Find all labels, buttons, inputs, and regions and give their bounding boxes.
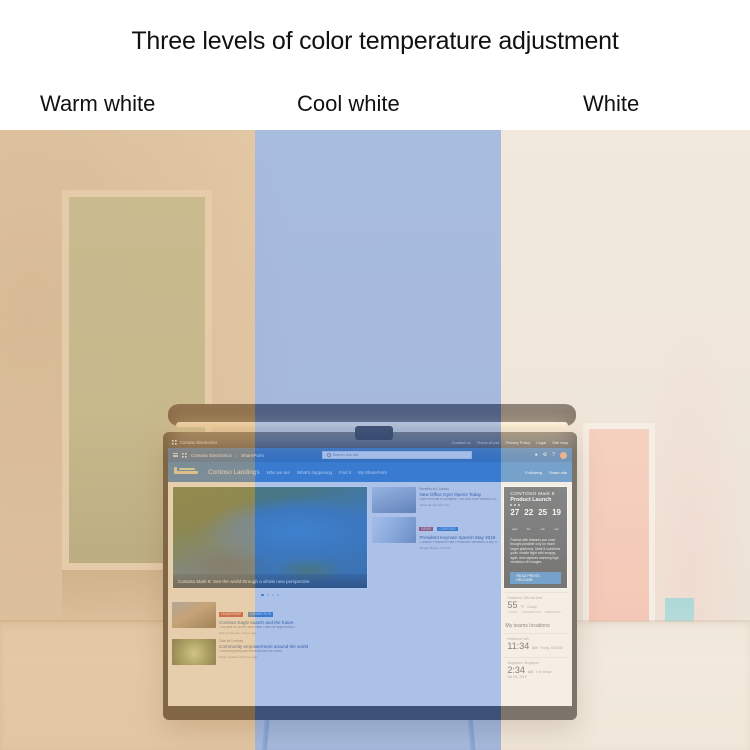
countdown-hours: 22 hrs xyxy=(524,509,533,535)
news-badge-secondary: CONTOSO xyxy=(437,527,457,532)
news-kicker: Benefits at Contoso xyxy=(419,487,498,491)
suite-brand: Contoso Electronics xyxy=(180,440,217,445)
countdown-days-value: 27 xyxy=(510,509,519,517)
weather-condition: Cloudy xyxy=(527,605,537,609)
gear-icon[interactable]: ⚙ xyxy=(543,452,547,458)
weather-temperature: 55 xyxy=(507,600,517,610)
page-title: Three levels of color temperature adjust… xyxy=(0,27,750,56)
promo-dots xyxy=(510,504,561,506)
app-launcher-icon[interactable] xyxy=(172,440,177,445)
site-navigation: Contoso Landings Who we are What's happe… xyxy=(168,462,572,482)
clock-widget-redmond: Redmond, WA 11:34 AM Friday, 5/3/2019 xyxy=(503,633,568,654)
nav-item-whats-happening[interactable]: What's happening xyxy=(297,470,332,475)
product-image: Three levels of color temperature adjust… xyxy=(0,0,750,750)
monitor-screen: Contoso Electronics Contact us Terms of … xyxy=(168,437,572,706)
search-placeholder: Search this site xyxy=(333,453,359,457)
weather-tab-weekend[interactable]: WEEKEND xyxy=(545,610,561,614)
countdown-minutes-value: 25 xyxy=(538,509,547,517)
news-meta: Adele Berger April 16 xyxy=(419,503,498,507)
countdown-days: 27 days xyxy=(510,509,519,535)
share-site-button[interactable]: Share site xyxy=(549,470,567,475)
suite-link-contact[interactable]: Contact us xyxy=(451,440,470,445)
appbar-separator: | xyxy=(236,453,237,458)
following-button[interactable]: Following xyxy=(525,470,542,475)
news-card[interactable]: LEADERSHIP CONNECTION Contoso Eagle laun… xyxy=(172,602,368,635)
countdown-days-unit: days xyxy=(512,527,518,531)
news-title[interactable]: President Keynote Speech May 2019 xyxy=(419,535,499,540)
weather-tab-tomorrow[interactable]: TOMORROW xyxy=(522,610,541,614)
waffle-icon[interactable] xyxy=(182,453,187,458)
header: Three levels of color temperature adjust… xyxy=(0,0,750,130)
news-meta: Nali Fernandes 3 days ago xyxy=(219,631,298,635)
countdown-hours-value: 22 xyxy=(524,509,533,517)
countdown-hours-unit: hrs xyxy=(527,527,531,531)
news-meta: Megan Bowen April 16 xyxy=(419,546,499,550)
news-badge: LEADERSHIP xyxy=(219,612,243,617)
news-description: Contoso President Patti Fernandez delive… xyxy=(419,541,499,545)
product-scene: Contoso Electronics Contact us Terms of … xyxy=(0,130,750,750)
countdown-seconds: 19 sec xyxy=(552,509,561,535)
search-icon xyxy=(327,453,330,456)
news-description: Gym remodel is complete. You now have ac… xyxy=(419,498,498,502)
site-name[interactable]: Contoso Landings xyxy=(208,469,260,476)
product-launch-promo: CONTOSO Mark 8 Product Launch 27 days xyxy=(503,486,568,589)
hero-image xyxy=(173,487,367,588)
avatar[interactable] xyxy=(560,452,567,459)
news-description: Continuing empowerment around the world xyxy=(219,650,308,654)
countdown-minutes: 25 min xyxy=(538,509,547,535)
carousel-dot[interactable] xyxy=(272,594,274,596)
read-press-release-button[interactable]: READ PRESS RELEASE xyxy=(510,572,561,584)
clock-time: 2:34 xyxy=(507,665,525,675)
news-title[interactable]: Community empowerment around the world xyxy=(219,644,308,649)
help-icon[interactable]: ? xyxy=(552,452,555,458)
label-warm-white: Warm white xyxy=(40,91,155,117)
countdown-minutes-unit: min xyxy=(540,527,545,531)
clock-suffix: AM xyxy=(528,670,533,674)
news-thumbnail xyxy=(172,639,216,665)
bell-icon[interactable]: ● xyxy=(535,452,538,458)
promo-paragraph: Packed with features you once thought po… xyxy=(510,538,561,565)
news-title[interactable]: New Office Gym Opens Today xyxy=(419,492,498,497)
news-title[interactable]: Contoso Eagle launch and the future xyxy=(219,620,298,625)
news-badge-secondary: CONNECTION xyxy=(248,612,273,617)
drone-logo-icon xyxy=(173,466,201,478)
page-content: Contoso Mark 8: See the world through a … xyxy=(168,482,572,706)
news-row: NEWS CONTOSO President Keynote Speech Ma… xyxy=(372,517,499,550)
carousel-dot[interactable] xyxy=(267,594,269,596)
hero-banner[interactable]: Contoso Mark 8: See the world through a … xyxy=(172,486,368,589)
countdown-timer: 27 days 22 hrs 25 min xyxy=(510,509,561,535)
desktop-monitor: Contoso Electronics Contact us Terms of … xyxy=(163,432,577,720)
label-white: White xyxy=(583,91,639,117)
clock-widget-singapore: Singapore, Singapore 2:34 AM 1 hr ahead … xyxy=(503,657,568,682)
carousel-dot[interactable] xyxy=(277,594,279,596)
promo-title-line2: Product Launch xyxy=(510,497,561,503)
clock-suffix: AM xyxy=(532,646,537,650)
hero-caption: Contoso Mark 8: See the world through a … xyxy=(173,574,367,588)
clock-date: Sat 5/4, 2019 xyxy=(507,675,564,679)
label-cool-white: Cool white xyxy=(297,91,400,117)
light-bar-mount-clip xyxy=(355,426,393,440)
news-thumbnail xyxy=(372,517,416,543)
suite-link-legal[interactable]: Legal xyxy=(536,440,546,445)
nav-item-who-we-are[interactable]: Who we are xyxy=(267,470,290,475)
suite-link-sitemap[interactable]: Site map xyxy=(552,440,568,445)
carousel-dots[interactable] xyxy=(172,592,368,598)
promo-column: CONTOSO Mark 8 Product Launch 27 days xyxy=(503,486,568,702)
app-bar: Contoso Electronics | SharePoint Search … xyxy=(168,448,572,462)
news-thumbnail xyxy=(172,602,216,628)
main-column: Contoso Mark 8: See the world through a … xyxy=(172,486,368,702)
appbar-brand: Contoso Electronics xyxy=(191,453,232,458)
weather-widget: Redmond, WA real-time 55 °F Cloudy TODAY… xyxy=(503,592,568,617)
news-row: Give at Contoso Community empowerment ar… xyxy=(172,639,368,665)
nav-item-my-sharepoint[interactable]: My SharePoint xyxy=(358,470,387,475)
news-row: Benefits at Contoso New Office Gym Opens… xyxy=(372,487,499,513)
news-description: This year at Drone Web Fans I had the op… xyxy=(219,626,298,630)
search-input[interactable]: Search this site xyxy=(322,451,472,459)
news-thumbnail xyxy=(372,487,416,513)
news-badge: NEWS xyxy=(419,527,433,532)
carousel-dot[interactable] xyxy=(261,594,263,596)
teams-locations-heading: My teams locations xyxy=(505,623,568,629)
clock-date: Friday, 5/3/2019 xyxy=(540,646,563,650)
suite-link-terms[interactable]: Terms of use xyxy=(477,440,500,445)
news-row: LEADERSHIP CONNECTION Contoso Eagle laun… xyxy=(172,602,368,635)
weather-unit: °F xyxy=(520,605,523,609)
clock-time: 11:34 xyxy=(507,641,529,651)
news-card[interactable]: Give at Contoso Community empowerment ar… xyxy=(172,639,368,665)
clock-offset: 1 hr ahead xyxy=(536,670,551,674)
news-meta: Diego Siciliani 10 hours ago xyxy=(219,655,308,659)
countdown-seconds-value: 19 xyxy=(552,509,561,517)
news-kicker: Give at Contoso xyxy=(219,639,308,643)
news-card[interactable]: NEWS CONTOSO President Keynote Speech Ma… xyxy=(372,517,499,550)
countdown-seconds-unit: sec xyxy=(554,527,558,531)
menu-icon[interactable] xyxy=(173,453,178,458)
weather-tab-today[interactable]: TODAY xyxy=(507,610,517,614)
appbar-app-name: SharePoint xyxy=(241,453,264,458)
nav-item-find-it[interactable]: Find it xyxy=(339,470,351,475)
news-card[interactable]: Benefits at Contoso New Office Gym Opens… xyxy=(372,487,499,513)
suite-link-privacy[interactable]: Privacy Policy xyxy=(506,440,531,445)
side-column: Benefits at Contoso New Office Gym Opens… xyxy=(372,486,499,702)
